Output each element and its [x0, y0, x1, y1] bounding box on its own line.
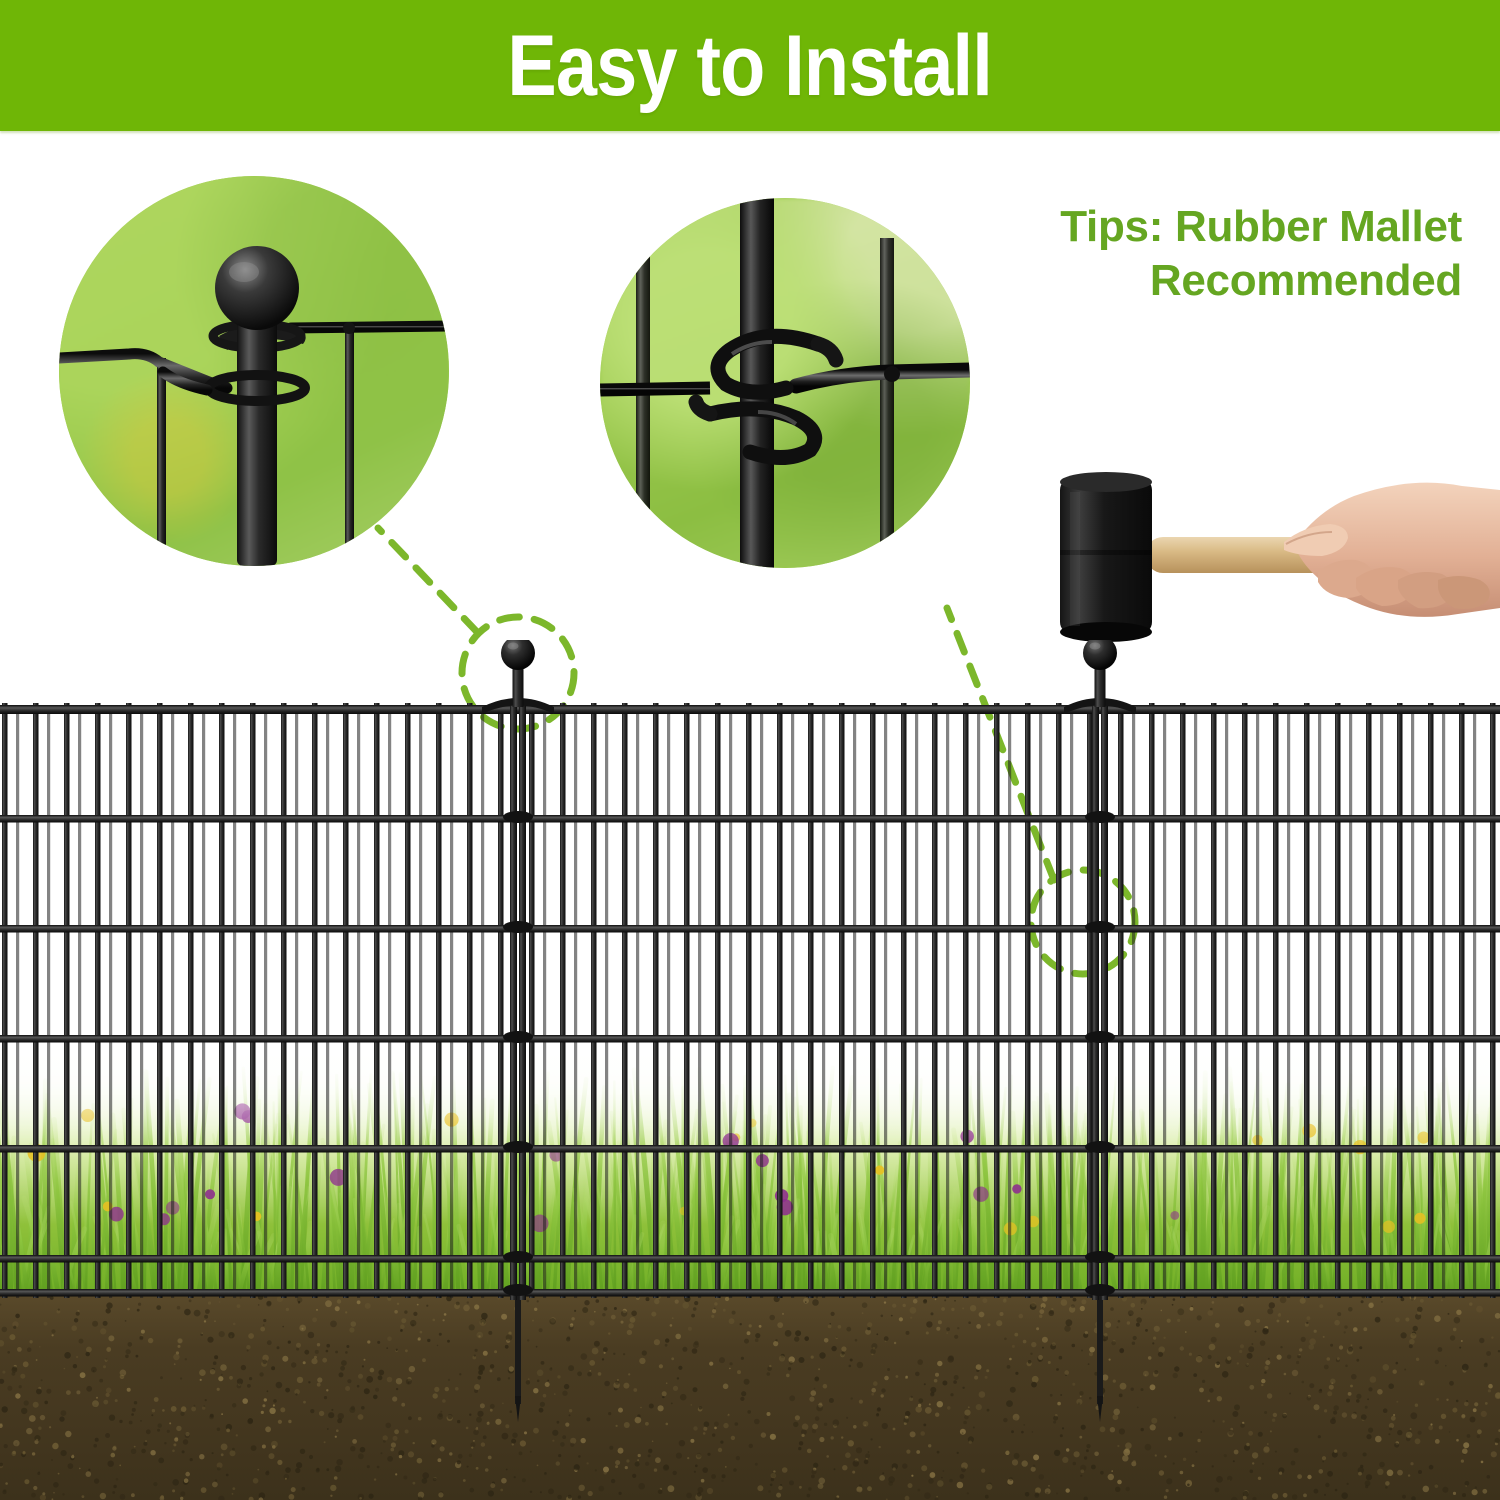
fence-vertical-bar-back — [605, 709, 608, 1298]
fence-vertical-bar — [684, 703, 690, 1298]
fence-vertical-bar-back — [977, 709, 980, 1298]
fence-vertical-bar-back — [202, 709, 205, 1298]
fence-vertical-bar-back — [1008, 709, 1011, 1298]
fence-vertical-bar-back — [326, 709, 329, 1298]
page-title: Easy to Install — [508, 23, 992, 109]
fence-vertical-bar-back — [791, 709, 794, 1298]
fence-post-tube — [519, 703, 526, 1300]
fence-vertical-bar — [901, 703, 907, 1298]
fence-vertical-bar — [653, 703, 659, 1298]
fence-vertical-bar — [188, 703, 194, 1298]
s-hook-connector — [503, 921, 533, 933]
fence-vertical-bar — [250, 703, 256, 1298]
fence-vertical-bar — [715, 703, 721, 1298]
fence-vertical-bar — [33, 703, 39, 1298]
fence-vertical-bar — [1242, 703, 1248, 1298]
fence-vertical-bar — [374, 703, 380, 1298]
header-banner: Easy to Install — [0, 0, 1500, 131]
fence-vertical-bar — [312, 703, 318, 1298]
fence-vertical-bar — [281, 703, 287, 1298]
s-hook-connector — [503, 1031, 533, 1043]
fence-vertical-bar-back — [1411, 709, 1414, 1298]
s-hook-connector — [503, 1251, 533, 1263]
ball-finial — [501, 640, 535, 670]
fence-vertical-bar — [2, 703, 8, 1298]
fence-vertical-bar — [1056, 703, 1062, 1298]
fence-vertical-bar-back — [1473, 709, 1476, 1298]
fence-vertical-bar-back — [78, 709, 81, 1298]
fence-ground-spike — [1097, 1286, 1103, 1404]
fence-vertical-bar — [1180, 703, 1186, 1298]
fence-vertical-bar-back — [884, 709, 887, 1298]
ball-finial-highlight — [1090, 643, 1101, 650]
fence-vertical-bar-back — [1318, 709, 1321, 1298]
fence-vertical-bar — [591, 703, 597, 1298]
fence-vertical-bar — [529, 703, 535, 1298]
fence-vertical-bar-back — [264, 709, 267, 1298]
ball-post-illustration — [59, 176, 449, 566]
s-hook-connector — [503, 811, 533, 823]
s-hook-connector — [503, 1141, 533, 1153]
s-hook-connector — [1085, 811, 1115, 823]
fence-vertical-bar-back — [667, 709, 670, 1298]
s-hook-illustration — [600, 198, 970, 568]
fence-vertical-bar-back — [388, 709, 391, 1298]
fence-vertical-bar-back — [853, 709, 856, 1298]
s-hook-connector — [1085, 1031, 1115, 1043]
fence-vertical-bar — [157, 703, 163, 1298]
fence-vertical-bar-back — [171, 709, 174, 1298]
fence-vertical-bar-back — [1132, 709, 1135, 1298]
fence-horizontal-rail — [0, 1145, 1500, 1153]
fence-vertical-bar-back — [946, 709, 949, 1298]
fence-vertical-bar — [405, 703, 411, 1298]
fence-vertical-bar — [560, 703, 566, 1298]
fence-vertical-bar — [994, 703, 1000, 1298]
fence-vertical-bar-back — [760, 709, 763, 1298]
fence-vertical-bar — [343, 703, 349, 1298]
tips-text: Tips: Rubber Mallet Recommended — [992, 200, 1462, 307]
fence-vertical-bar-back — [109, 709, 112, 1298]
fence-vertical-bar — [1211, 703, 1217, 1298]
fence-vertical-bar-back — [16, 709, 19, 1298]
fence-vertical-bar-back — [698, 709, 701, 1298]
fence-vertical-bar — [1025, 703, 1031, 1298]
fence-horizontal-rail — [0, 925, 1500, 933]
fence-vertical-bar-back — [1287, 709, 1290, 1298]
fence-vertical-bar-back — [915, 709, 918, 1298]
fence-vertical-bar — [219, 703, 225, 1298]
s-hook-connector — [503, 1284, 533, 1296]
fence-vertical-bar-back — [357, 709, 360, 1298]
fence-bottom-rail — [0, 1289, 1500, 1297]
fence-vertical-bar-back — [140, 709, 143, 1298]
fence-vertical-bar-back — [1039, 709, 1042, 1298]
s-hook-connector — [1085, 1251, 1115, 1263]
fence-vertical-bar — [1087, 703, 1093, 1298]
fence-post-tube — [1101, 703, 1108, 1300]
fence-vertical-bar-back — [1194, 709, 1197, 1298]
fence-post-tube — [1092, 703, 1099, 1300]
fence-vertical-bar-back — [574, 709, 577, 1298]
fence-vertical-bar — [1304, 703, 1310, 1298]
fence-vertical-bar — [436, 703, 442, 1298]
fence-vertical-bar — [1397, 703, 1403, 1298]
infographic-stage: Easy to Install Tips: Rubber Mallet Reco… — [0, 0, 1500, 1500]
fence-horizontal-rail — [0, 1255, 1500, 1263]
fence-vertical-bar — [126, 703, 132, 1298]
s-hook-connector — [1085, 1284, 1115, 1296]
fence-vertical-bar — [498, 703, 504, 1298]
fence-vertical-bar-back — [47, 709, 50, 1298]
fence-vertical-bar-back — [1349, 709, 1352, 1298]
fence-vertical-bar — [1459, 703, 1465, 1298]
fence-vertical-bar — [1149, 703, 1155, 1298]
fence-vertical-bar-back — [419, 709, 422, 1298]
fence-vertical-bar-back — [729, 709, 732, 1298]
fence-vertical-bar-back — [636, 709, 639, 1298]
fence-vertical-bar-back — [543, 709, 546, 1298]
fence-spike-tip — [1097, 1396, 1103, 1422]
fence-vertical-bar — [1335, 703, 1341, 1298]
fence-vertical-bar-back — [481, 709, 484, 1298]
fence-vertical-bar — [622, 703, 628, 1298]
fence-panels — [0, 640, 1500, 1500]
fence-vertical-bar — [1490, 703, 1496, 1298]
fence-vertical-bar — [1118, 703, 1124, 1298]
fence-horizontal-rail — [0, 815, 1500, 823]
fence-vertical-bar — [932, 703, 938, 1298]
fence-vertical-bar — [808, 703, 814, 1298]
fence-vertical-bar — [870, 703, 876, 1298]
fence-vertical-bar-back — [1070, 709, 1073, 1298]
fence-horizontal-rail — [0, 705, 1500, 714]
fence-vertical-bar-back — [1225, 709, 1228, 1298]
ball-finial — [1083, 640, 1117, 670]
fence-vertical-bar — [467, 703, 473, 1298]
fence-vertical-bar — [1366, 703, 1372, 1298]
fence-vertical-bar — [1428, 703, 1434, 1298]
fence-vertical-bar — [1273, 703, 1279, 1298]
fence-vertical-bar — [963, 703, 969, 1298]
fence-vertical-bar — [777, 703, 783, 1298]
fence-vertical-bar — [64, 703, 70, 1298]
tips-line-2: Recommended — [992, 254, 1462, 308]
fence-post-tube — [510, 703, 517, 1300]
fence-vertical-bar-back — [1442, 709, 1445, 1298]
fence-vertical-bar-back — [450, 709, 453, 1298]
ball-finial-highlight — [508, 643, 519, 650]
fence-vertical-bar — [839, 703, 845, 1298]
fence-horizontal-rail — [0, 1035, 1500, 1043]
detail-circle-s-hook — [600, 198, 970, 568]
fence-vertical-bar-back — [233, 709, 236, 1298]
fence-spike-tip — [515, 1396, 521, 1422]
fence-ground-spike — [515, 1286, 521, 1404]
fence-vertical-bar-back — [295, 709, 298, 1298]
detail-circle-ball-post — [59, 176, 449, 566]
fence-vertical-bar — [95, 703, 101, 1298]
s-hook-connector — [1085, 921, 1115, 933]
fence-vertical-bar — [746, 703, 752, 1298]
fence-scene — [0, 640, 1500, 1500]
fence-vertical-bar-back — [822, 709, 825, 1298]
fence-vertical-bar-back — [1256, 709, 1259, 1298]
tips-line-1: Tips: Rubber Mallet — [1060, 202, 1462, 251]
fence-vertical-bar-back — [1380, 709, 1383, 1298]
fence-vertical-bar-back — [1163, 709, 1166, 1298]
s-hook-connector — [1085, 1141, 1115, 1153]
